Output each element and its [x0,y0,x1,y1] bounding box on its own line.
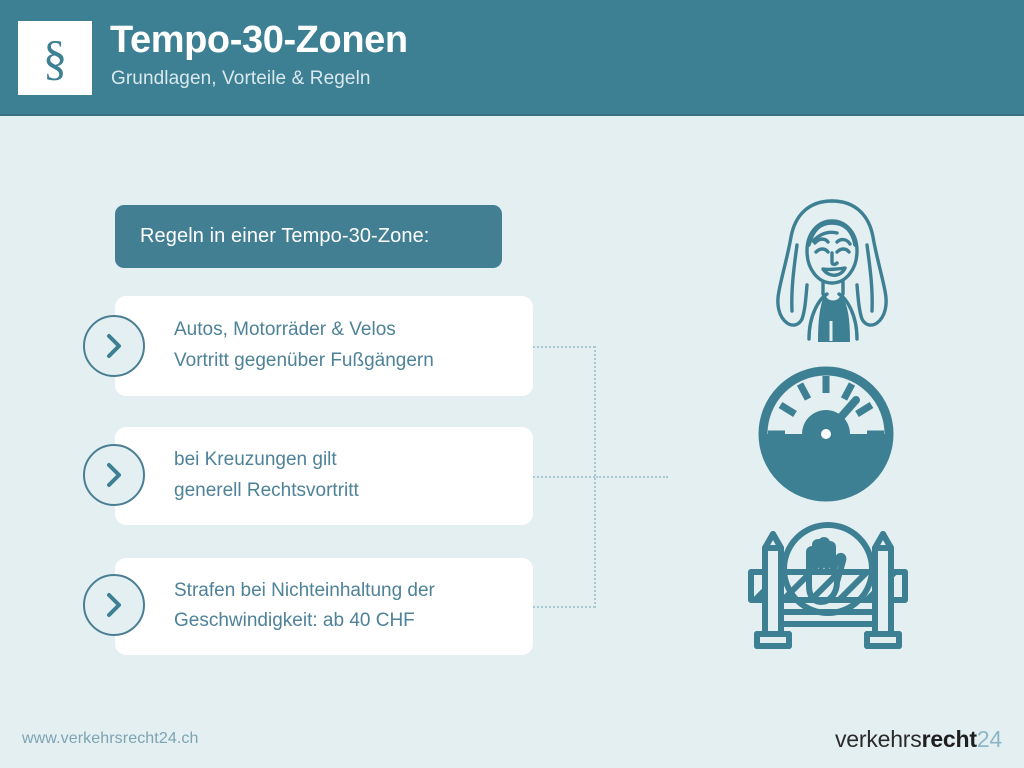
rule-card-2: bei Kreuzungen gilt generell Rechtsvortr… [115,427,533,525]
page-subtitle: Grundlagen, Vorteile & Regeln [111,68,371,90]
rule-card-1: Autos, Motorräder & Velos Vortritt gegen… [115,296,533,396]
paragraph-logo-box: § [18,21,92,95]
brand-part-recht: recht [922,726,977,752]
smiling-woman-illustration [757,193,907,345]
footer-url[interactable]: www.verkehrsrecht24.ch [22,730,199,748]
page-header: § Tempo-30-Zonen Grundlagen, Vorteile & … [0,0,1024,116]
road-barrier-stop-hand-icon [743,512,913,662]
rule-card-3-text: Strafen bei Nichteinhaltung der Geschwin… [174,576,435,638]
page-title: Tempo-30-Zonen [110,19,408,62]
rules-headline-label: Regeln in einer Tempo-30-Zone: [140,225,429,248]
infographic-page: § Tempo-30-Zonen Grundlagen, Vorteile & … [0,0,1024,768]
speedometer-icon [755,363,897,505]
brand-part-24: 24 [977,726,1002,752]
rule-card-2-text: bei Kreuzungen gilt generell Rechtsvortr… [174,445,359,507]
chevron-right-icon [83,315,145,377]
chevron-right-icon [83,444,145,506]
brand-part-verkehrs: verkehrs [835,726,922,752]
footer-brand-logo: verkehrsrecht24 [835,726,1002,753]
paragraph-icon: § [43,33,68,82]
rule-card-1-text: Autos, Motorräder & Velos Vortritt gegen… [174,315,434,377]
rules-headline-badge: Regeln in einer Tempo-30-Zone: [115,205,502,268]
connector-line-card-2 [533,476,595,478]
connector-line-card-1 [533,346,595,348]
chevron-right-icon [83,574,145,636]
connector-line-card-3 [533,606,595,608]
connector-line-to-illustrations [596,476,668,478]
rule-card-3: Strafen bei Nichteinhaltung der Geschwin… [115,558,533,655]
